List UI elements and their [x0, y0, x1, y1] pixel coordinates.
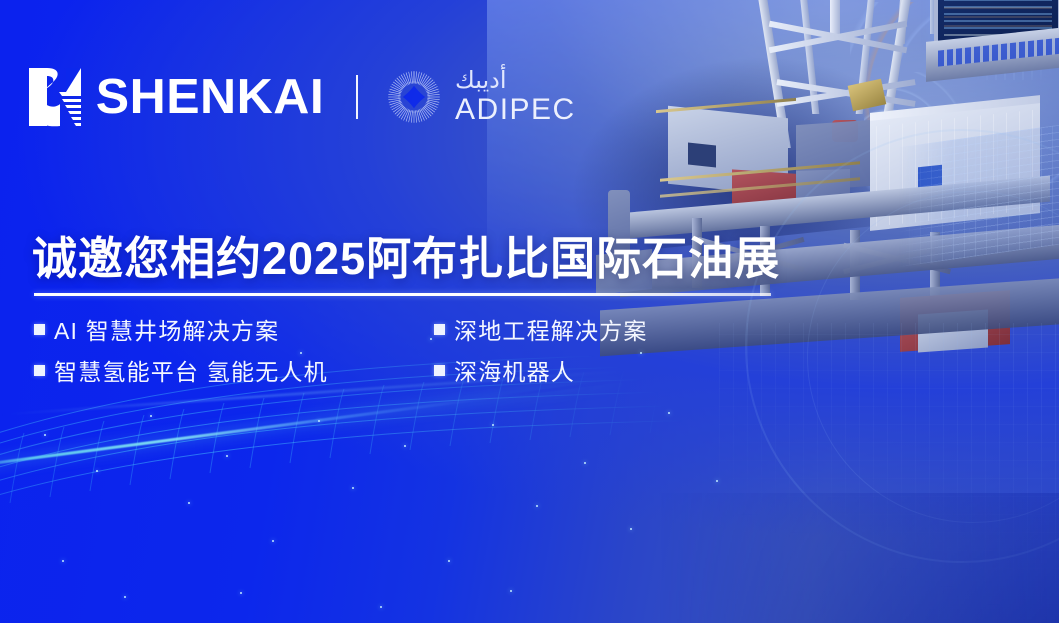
banner-content: SHENKAI: [0, 0, 1059, 623]
headline: 诚邀您相约2025阿布扎比国际石油展: [32, 222, 780, 287]
bullet-label: 深海机器人: [454, 353, 575, 387]
bullet-item: 深地工程解决方案: [434, 312, 648, 346]
adipec-wordmark: أديبك ADIPEC: [455, 69, 576, 125]
bullet-square-icon: [434, 365, 445, 376]
shenkai-logo-icon: [26, 66, 84, 128]
shenkai-wordmark: SHENKAI: [96, 73, 325, 122]
bullet-label: 深地工程解决方案: [454, 312, 648, 346]
bullet-row: 智慧氢能平台 氢能无人机 深海机器人: [34, 353, 734, 387]
adipec-latin-text: ADIPEC: [455, 95, 576, 125]
bullet-label: AI 智慧井场解决方案: [54, 312, 279, 346]
logo-lockup: SHENKAI: [26, 66, 576, 128]
bullet-label: 智慧氢能平台 氢能无人机: [54, 353, 328, 387]
feature-bullet-list: AI 智慧井场解决方案 深地工程解决方案 智慧氢能平台 氢能无人机 深海机器人: [34, 312, 734, 394]
bullet-item: 深海机器人: [434, 353, 575, 387]
headline-divider-rule: [34, 293, 771, 296]
adipec-emblem-icon: [386, 69, 442, 125]
bullet-row: AI 智慧井场解决方案 深地工程解决方案: [34, 312, 734, 346]
adipec-invitation-banner: SHENKAI: [0, 0, 1059, 623]
adipec-arabic-text: أديبك: [455, 69, 507, 93]
bullet-item: AI 智慧井场解决方案: [34, 312, 434, 346]
logo-divider: [356, 75, 358, 119]
adipec-logo: أديبك ADIPEC: [386, 69, 576, 125]
bullet-square-icon: [434, 324, 445, 335]
bullet-item: 智慧氢能平台 氢能无人机: [34, 353, 434, 387]
bullet-square-icon: [34, 365, 45, 376]
bullet-square-icon: [34, 324, 45, 335]
